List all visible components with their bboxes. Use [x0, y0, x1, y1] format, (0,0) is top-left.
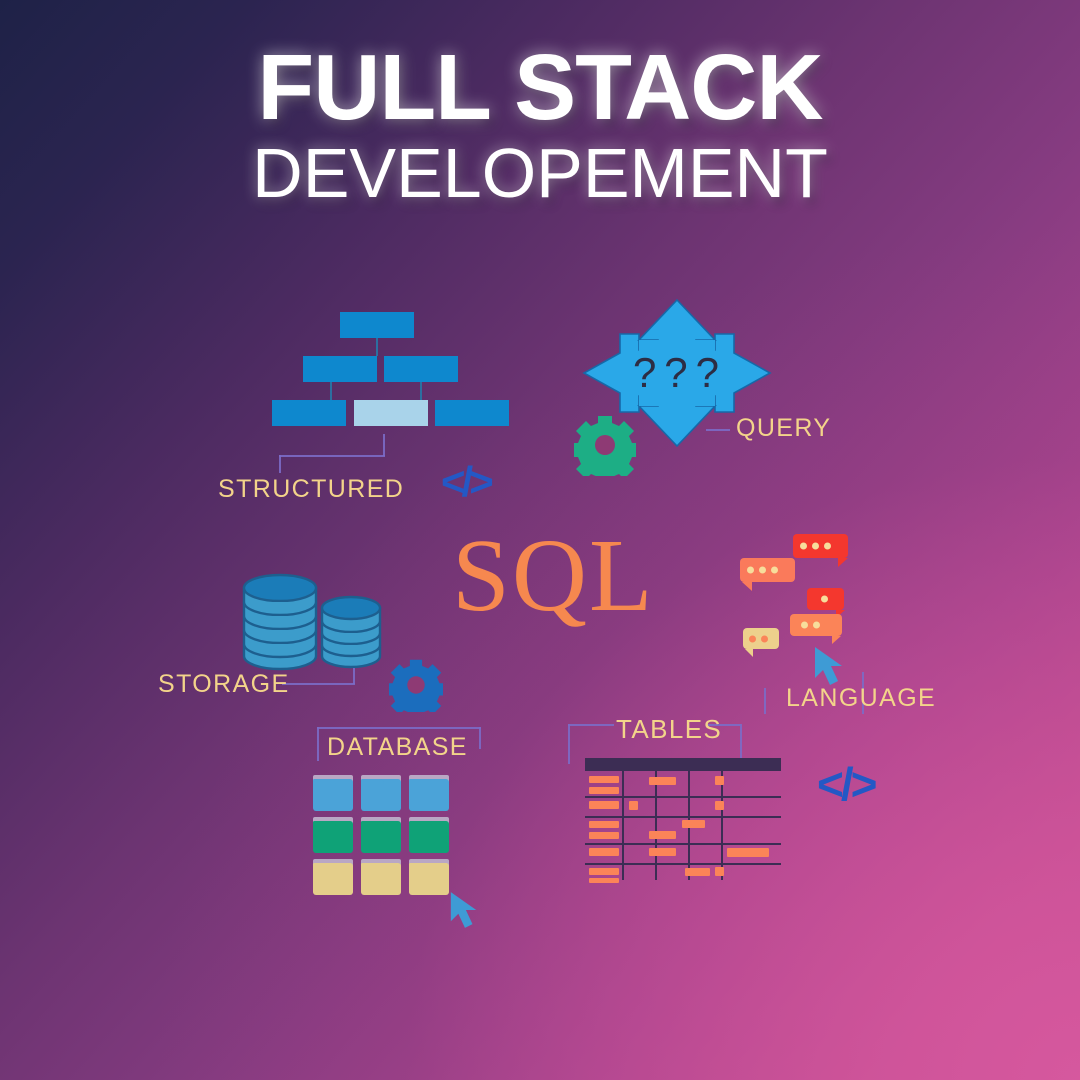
table-cell [715, 776, 724, 785]
connector-line [282, 683, 355, 685]
bubble-dots [821, 596, 828, 603]
spreadsheet-table-icon [585, 758, 781, 880]
table-cell [589, 848, 619, 856]
hierarchy-link [420, 382, 422, 400]
folder-item [409, 817, 449, 853]
folder-item [409, 775, 449, 811]
chat-bubble [743, 628, 779, 649]
folder-item [361, 859, 401, 895]
table-cell [589, 832, 619, 839]
bubble-dots [747, 567, 778, 574]
gear-icon [389, 658, 443, 717]
table-gridline [585, 843, 781, 845]
table-cell [715, 867, 724, 876]
table-cell [589, 821, 619, 828]
page-title-primary: FULL STACK [0, 42, 1080, 133]
connector-line [568, 724, 570, 764]
bubble-tail [745, 649, 753, 657]
table-cell [682, 820, 705, 828]
connector-line [479, 727, 481, 749]
table-gridline [585, 863, 781, 865]
connector-line [568, 724, 614, 726]
bubble-dots [800, 543, 831, 550]
table-cell [649, 777, 676, 785]
page-title-secondary: DEVELOPEMENT [0, 137, 1080, 210]
table-cell [589, 776, 619, 783]
bubble-tail [838, 558, 848, 567]
connector-line [279, 455, 281, 473]
connector-line [317, 727, 481, 729]
folder-item [313, 817, 353, 853]
table-cell [685, 868, 710, 876]
hierarchy-link [376, 338, 378, 356]
chat-bubble [793, 534, 848, 558]
table-cell [649, 831, 676, 839]
folder-item [313, 859, 353, 895]
bubble-dots [801, 622, 820, 629]
poster-title-block: FULL STACK DEVELOPEMENT [0, 42, 1080, 210]
table-cell [589, 868, 619, 875]
hierarchy-chart-icon [272, 312, 482, 427]
table-cell [715, 801, 724, 810]
database-cylinder-stack-icon [240, 570, 400, 670]
connector-line [383, 434, 385, 456]
code-brackets-icon: </> [441, 458, 490, 506]
table-gridline [585, 796, 781, 798]
node-label-storage: STORAGE [158, 670, 290, 699]
chat-bubble [807, 588, 844, 610]
hierarchy-bar-leaf-2 [354, 400, 428, 426]
sql-wordmark: SQL [452, 524, 654, 628]
connector-line [317, 727, 319, 761]
cursor-arrow-icon [448, 890, 480, 935]
connector-line [706, 429, 730, 431]
chat-bubble [790, 614, 842, 636]
chat-bubble [740, 558, 795, 582]
poster-canvas: FULL STACK DEVELOPEMENT STRUCTURED ??? Q… [0, 0, 1080, 1080]
node-label-language: LANGUAGE [786, 684, 936, 713]
folder-grid-icon [313, 775, 453, 893]
table-cell [589, 787, 619, 794]
folder-item [409, 859, 449, 895]
table-cell [589, 878, 619, 883]
hierarchy-bar-mid-1 [303, 356, 377, 382]
node-label-database: DATABASE [327, 733, 468, 762]
node-label-tables: TABLES [616, 714, 722, 745]
table-cell [629, 801, 638, 810]
connector-line [740, 724, 742, 758]
table-cell [649, 848, 676, 856]
connector-line [279, 455, 385, 457]
hierarchy-bar-mid-2 [384, 356, 458, 382]
table-cell [727, 848, 769, 857]
hierarchy-bar-root [340, 312, 414, 338]
bubble-tail [742, 582, 752, 591]
folder-item [313, 775, 353, 811]
table-gridline [585, 816, 781, 818]
connector-line [353, 668, 355, 684]
hierarchy-bar-leaf-1 [272, 400, 346, 426]
node-label-query: QUERY [736, 414, 831, 443]
node-label-structured: STRUCTURED [218, 475, 404, 504]
gear-icon [574, 414, 636, 481]
connector-line [764, 688, 766, 714]
hierarchy-link [330, 382, 332, 400]
bubble-dots [749, 635, 768, 642]
hierarchy-bar-leaf-3 [435, 400, 509, 426]
table-cell [589, 801, 619, 809]
code-brackets-icon: </> [817, 757, 875, 811]
bubble-tail [832, 636, 841, 644]
folder-item [361, 775, 401, 811]
cylinder-stack-svg [240, 570, 400, 675]
folder-item [361, 817, 401, 853]
chat-bubbles-icon [736, 532, 886, 662]
table-header-bar [585, 758, 781, 771]
